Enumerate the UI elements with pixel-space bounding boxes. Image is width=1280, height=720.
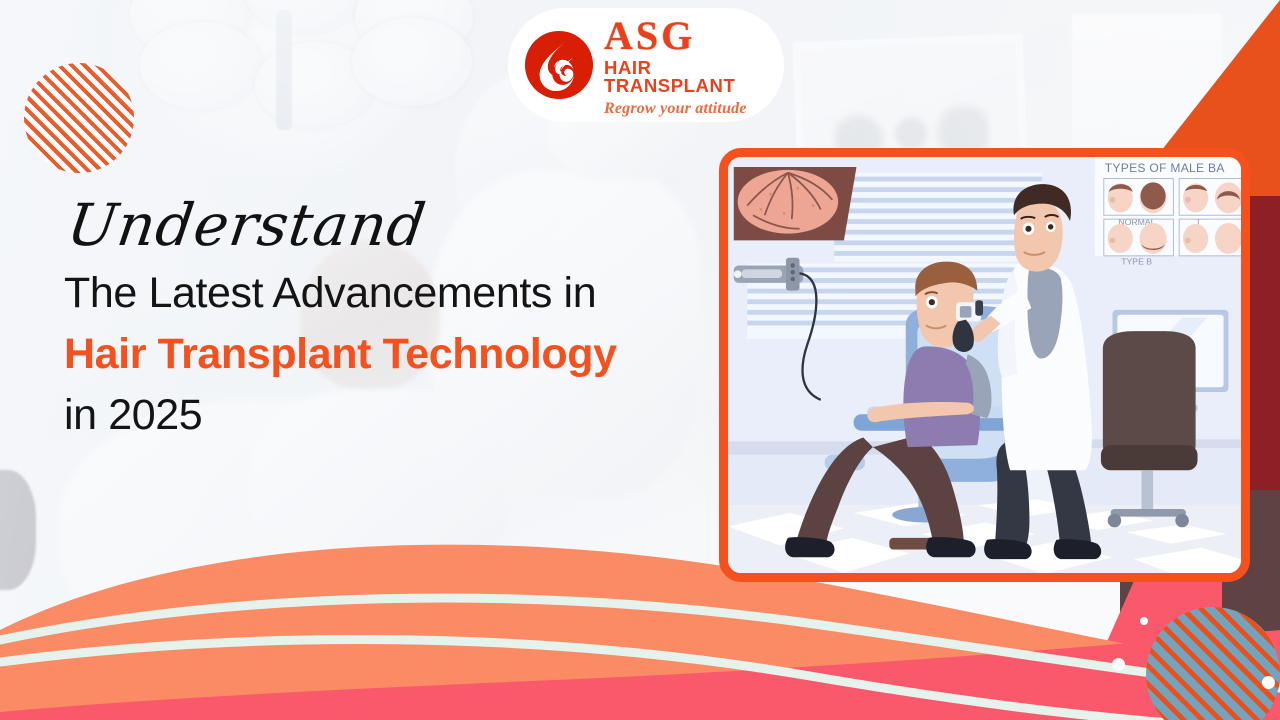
poster-head-typeb-side: [1108, 224, 1133, 253]
decor-dot: [1112, 658, 1125, 671]
headline-script-word: Understand: [64, 196, 430, 254]
baldness-types-poster: TYPES OF MALE BA NORMAL: [1095, 157, 1241, 267]
poster-head-type-side: [1183, 183, 1208, 212]
logo-tagline: Regrow your attitude: [604, 101, 784, 117]
poster-head-typec-side: [1183, 224, 1208, 253]
logo-subtitle: HAIR TRANSPLANT: [604, 59, 784, 96]
logo-brand: ASG: [604, 16, 784, 56]
striped-circle-bottom-right: [1146, 607, 1280, 720]
poster-title: TYPES OF MALE BA: [1105, 161, 1226, 175]
headline-line-4: in 2025: [64, 394, 724, 438]
promo-banner: ASG HAIR TRANSPLANT Regrow your attitude…: [0, 0, 1280, 720]
clinic-illustration-panel: TYPES OF MALE BA NORMAL: [719, 148, 1250, 582]
decor-dot: [1262, 676, 1275, 689]
poster-head-type-top: [1215, 182, 1241, 213]
headline-line-2: The Latest Advancements in: [64, 272, 724, 316]
decor-dot: [1140, 617, 1148, 625]
clinic-illustration: TYPES OF MALE BA NORMAL: [728, 157, 1241, 573]
logo-wordmark: ASG HAIR TRANSPLANT Regrow your attitude: [604, 14, 784, 117]
poster-head-normal-top: [1140, 182, 1167, 213]
poster-label-type-b: TYPE B: [1121, 257, 1152, 267]
poster-head-typec-top: [1215, 223, 1241, 254]
poster-head-normal-side: [1108, 183, 1133, 212]
headline-block: Understand The Latest Advancements in Ha…: [64, 196, 724, 438]
striped-circle-top-left: [24, 63, 134, 173]
poster-head-typeb-top: [1140, 223, 1167, 254]
headline-line-3-highlight: Hair Transplant Technology: [64, 333, 724, 377]
asg-logo[interactable]: ASG HAIR TRANSPLANT Regrow your attitude: [508, 8, 784, 122]
scalp-diagram-screen: [734, 167, 857, 240]
asg-flame-droplet-mark: [522, 28, 596, 102]
